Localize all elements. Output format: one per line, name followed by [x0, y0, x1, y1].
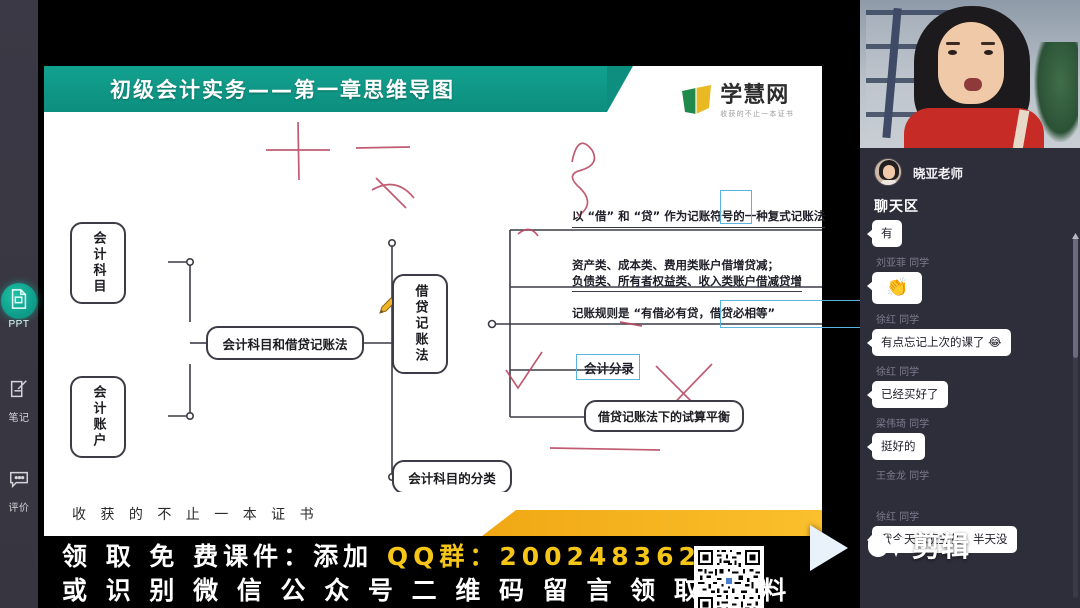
brand-name: 学慧网	[720, 85, 794, 107]
chat-username: 徐红 同学	[876, 311, 1064, 326]
slide-header-bar: 初级会计实务——第一章思维导图	[44, 66, 607, 112]
teacher-eye-right	[984, 50, 993, 55]
promo-banner: 领 取 免 费课件：添加 QQ群：200248362 或 识 别 微 信 公 众…	[44, 536, 822, 608]
comment-bubble-icon	[0, 468, 38, 498]
chat-message: 徐红 同学 我今天找班主任，半天没	[860, 508, 1080, 553]
chat-bubble: 挺好的	[872, 433, 925, 460]
sticker-emoji: 👏	[886, 277, 908, 299]
chat-username: 王金龙 同学	[876, 467, 1064, 482]
teacher-info-row[interactable]: 晓亚老师	[860, 150, 1080, 194]
detail-account-rules: 资产类、成本类、费用类账户借增贷减； 负债类、所有者权益类、收入类账户借减贷增	[572, 257, 802, 292]
node-debit-credit-bookkeeping[interactable]: 借贷记账法	[392, 274, 448, 374]
ppt-slide-icon	[0, 288, 38, 318]
page-title: 初级会计实务——第一章思维导图	[44, 74, 455, 104]
promo-qq-group: QQ群：200248362	[387, 542, 701, 571]
highlight-box-1	[720, 190, 752, 224]
teacher-brow-right	[981, 42, 995, 45]
chat-bubble: 我今天找班主任，半天没	[872, 526, 1017, 553]
highlight-box-journal-entry	[576, 354, 640, 380]
promo-line-1: 领 取 免 费课件：添加 QQ群：200248362	[62, 540, 791, 574]
chat-message: 徐红 同学 有点忘记上次的课了 😂	[860, 311, 1080, 356]
teacher-face	[938, 22, 1004, 104]
chat-message: 徐红 同学 已经买好了	[860, 363, 1080, 408]
promo-line-1-prefix: 领 取 免 费课件：添加	[62, 542, 387, 571]
note-edit-icon	[0, 378, 38, 408]
teacher-name: 晓亚老师	[913, 163, 963, 182]
highlight-box-rule	[720, 300, 860, 328]
detail-definition: 以 “借” 和 “贷” 作为记账符号的一种复式记账法	[572, 208, 825, 228]
node-accounting-subject[interactable]: 会计科目	[70, 222, 126, 304]
chat-username: 刘亚菲 同学	[876, 254, 1064, 269]
tagline-text: 收 获 的 不 止 一 本 证 书	[44, 504, 319, 524]
avatar	[874, 158, 902, 186]
chat-scrollbar-thumb[interactable]	[1073, 238, 1078, 358]
chat-bubble: 有点忘记上次的课了 😂	[872, 329, 1011, 356]
slide-footer-tagline: 收 获 的 不 止 一 本 证 书	[44, 492, 822, 536]
chat-bubble: 👏	[872, 272, 922, 304]
chat-message: 刘亚菲 同学 👏	[860, 254, 1080, 304]
node-subject-and-debit-credit[interactable]: 会计科目和借贷记账法	[206, 326, 364, 360]
chat-message-list[interactable]: 有 刘亚菲 同学 👏 徐红 同学 有点忘记上次的课了 😂 徐红 同学 已经买好了…	[860, 216, 1080, 608]
chat-section-title: 聊天区	[874, 196, 919, 216]
promo-line-2: 或 识 别 微 信 公 众 号 二 维 码 留 言 领 取 资 料	[62, 574, 791, 608]
node-trial-balance[interactable]: 借贷记账法下的试算平衡	[584, 400, 744, 432]
mind-map: 会计科目 会计账户 会计科目和借贷记账法 借贷记账法 会计科目的分类 以 “借”…	[44, 112, 822, 536]
play-icon[interactable]	[810, 525, 848, 571]
gold-wedge-decoration	[482, 510, 822, 536]
qr-code-wechat	[694, 546, 764, 608]
sidebar-item-notes-label: 笔记	[0, 409, 38, 424]
teacher-eye-left	[948, 50, 957, 55]
detail-account-rules-line2: 负债类、所有者权益类、收入类账户借减贷增	[572, 273, 802, 289]
sidebar-item-notes[interactable]: 笔记	[0, 378, 38, 424]
sidebar-item-ppt-label: PPT	[0, 319, 38, 330]
chat-username: 徐红 同学	[876, 363, 1064, 378]
teacher-brow-left	[946, 42, 960, 45]
live-class-player: PPT 笔记 评价 初级会计实务——第一章思维导图	[0, 0, 1080, 608]
video-stage[interactable]: 初级会计实务——第一章思维导图 学慧网 收获的不止一本证书	[38, 0, 860, 608]
sidebar-item-ppt[interactable]: PPT	[0, 288, 38, 330]
presentation-slide: 初级会计实务——第一章思维导图 学慧网 收获的不止一本证书	[44, 66, 822, 536]
sidebar-item-evaluation[interactable]: 评价	[0, 468, 38, 514]
chat-message: 有	[860, 220, 1080, 247]
left-tool-rail: PPT 笔记 评价	[0, 0, 38, 608]
scroll-up-arrow-icon[interactable]	[1071, 228, 1080, 237]
teacher-mouth	[964, 78, 982, 91]
chat-bubble: 已经买好了	[872, 381, 948, 408]
right-panel: 晓亚老师 聊天区 有 刘亚菲 同学 👏 徐红 同学 有点忘记上次的课了 😂 徐红…	[860, 0, 1080, 608]
chat-username: 梁伟琦 同学	[876, 415, 1064, 430]
teacher-webcam[interactable]	[860, 0, 1080, 148]
chat-bubble: 有	[872, 220, 902, 247]
chat-username: 徐红 同学	[876, 508, 1064, 523]
node-accounting-account[interactable]: 会计账户	[70, 376, 126, 458]
sidebar-item-evaluation-label: 评价	[0, 499, 38, 514]
node-subject-classification[interactable]: 会计科目的分类	[392, 460, 512, 494]
detail-account-rules-line1: 资产类、成本类、费用类账户借增贷减；	[572, 257, 802, 273]
chat-message: 梁伟琦 同学 挺好的	[860, 415, 1080, 460]
chat-message: 王金龙 同学	[860, 467, 1080, 501]
